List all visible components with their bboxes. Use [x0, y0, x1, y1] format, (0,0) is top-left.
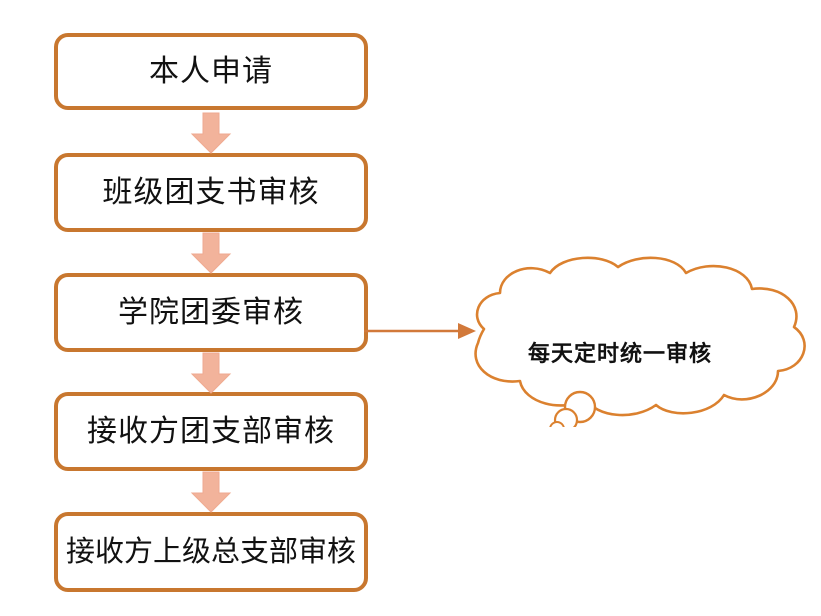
down-arrow-icon — [190, 232, 232, 274]
process-box-label: 接收方团支部审核 — [87, 417, 335, 447]
flowchart-canvas: 本人申请 班级团支书审核 学院团委审核 接收方团支部审核 接收方上级总支部审核 — [0, 0, 821, 616]
down-arrow-icon — [190, 352, 232, 394]
process-box-step-4[interactable]: 接收方团支部审核 — [54, 392, 368, 471]
process-box-label: 学院团委审核 — [118, 298, 304, 328]
thought-cloud-shape[interactable] — [462, 255, 814, 427]
process-box-label: 接收方上级总支部审核 — [66, 538, 356, 567]
down-arrow-icon — [190, 112, 232, 154]
down-arrow-icon — [190, 471, 232, 513]
process-box-step-2[interactable]: 班级团支书审核 — [54, 153, 368, 232]
process-box-step-3[interactable]: 学院团委审核 — [54, 273, 368, 352]
process-box-label: 班级团支书审核 — [103, 178, 320, 208]
process-box-step-5[interactable]: 接收方上级总支部审核 — [54, 512, 368, 592]
process-box-label: 本人申请 — [149, 57, 273, 87]
process-box-step-1[interactable]: 本人申请 — [54, 33, 368, 110]
